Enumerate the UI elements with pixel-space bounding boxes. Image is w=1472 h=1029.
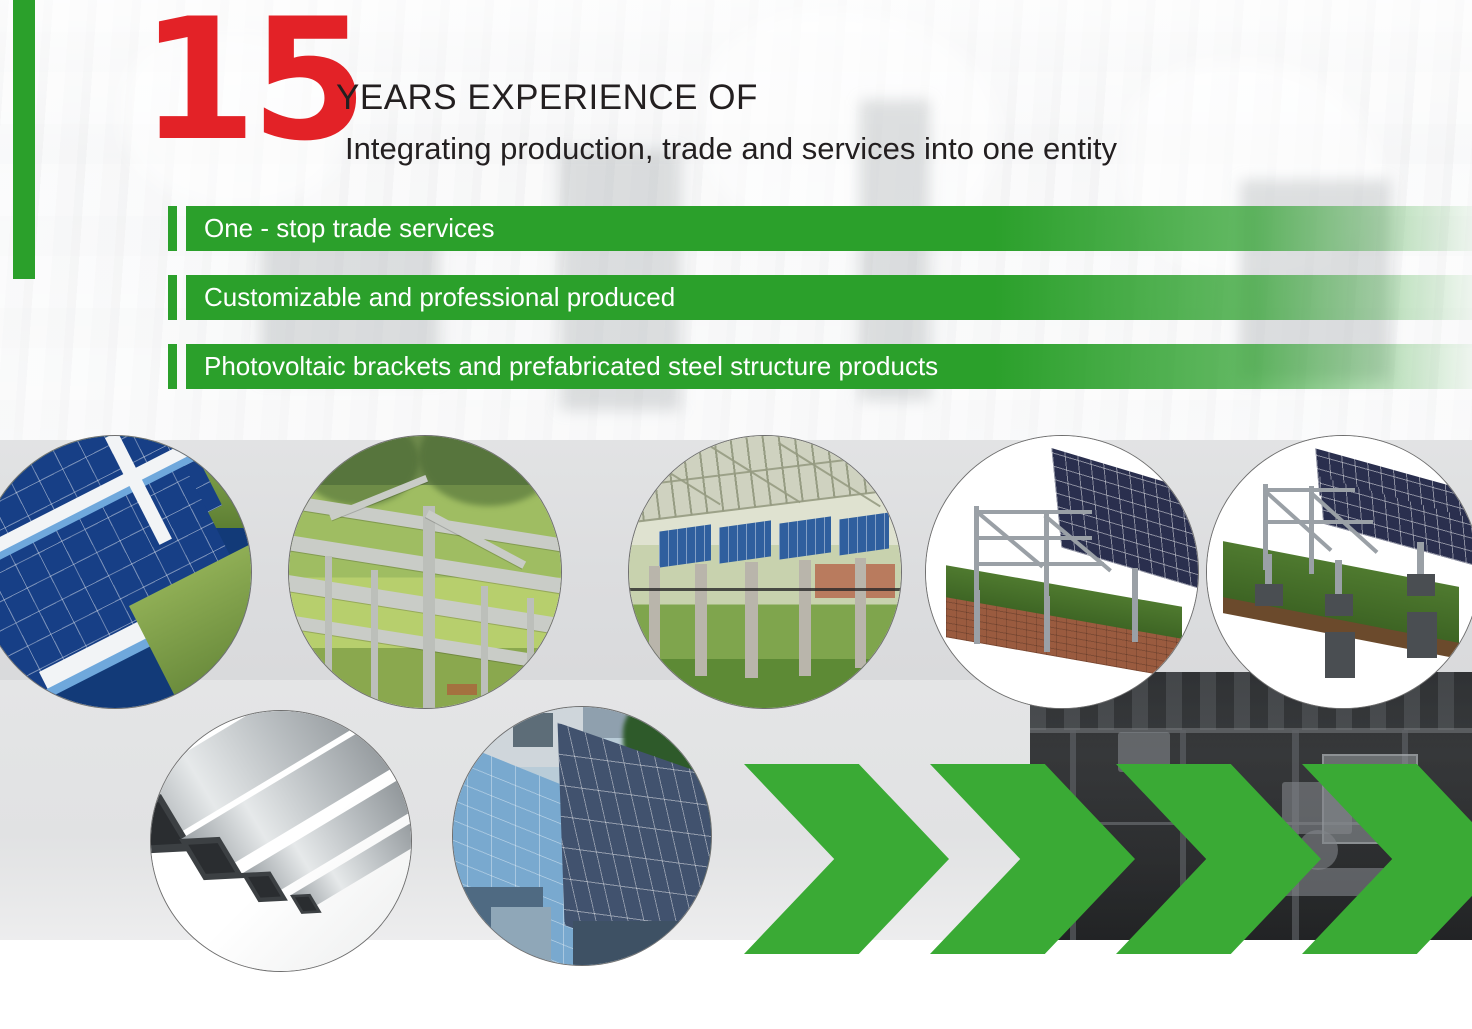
photo-circle-ground-mount-render-grass [1206,435,1472,709]
left-accent-bar [13,0,35,279]
feature-label-3: Photovoltaic brackets and prefabricated … [204,344,938,389]
solar-panel-array-image [0,436,251,708]
years-number: 15 [140,0,362,164]
rooftop-solar-image [453,707,711,965]
headline: YEARS EXPERIENCE OF [336,78,758,118]
photo-circle-agrivoltaic-canopy [628,435,902,709]
agrivoltaic-canopy-image [629,436,901,708]
photo-circle-ground-mount-render-brick [925,435,1199,709]
photo-circle-steel-tubes [150,710,412,972]
photo-circle-solar-panel-array [0,435,252,709]
steel-tube-profiles-image [151,711,411,971]
photo-circle-rooftop-solar [452,706,712,966]
feature-label-1: One - stop trade services [204,206,494,251]
feature-tick-icon [168,206,177,251]
photo-circle-mounting-frames [288,435,562,709]
subheadline: Integrating production, trade and servic… [345,131,1117,167]
ground-mount-render-grass-image [1207,436,1472,708]
promo-banner: 15 YEARS EXPERIENCE OF Integrating produ… [0,0,1472,1029]
feature-tick-icon [168,344,177,389]
ground-mount-render-brick-image [926,436,1198,708]
mounting-frames-image [289,436,561,708]
feature-tick-icon [168,275,177,320]
feature-label-2: Customizable and professional produced [204,275,675,320]
